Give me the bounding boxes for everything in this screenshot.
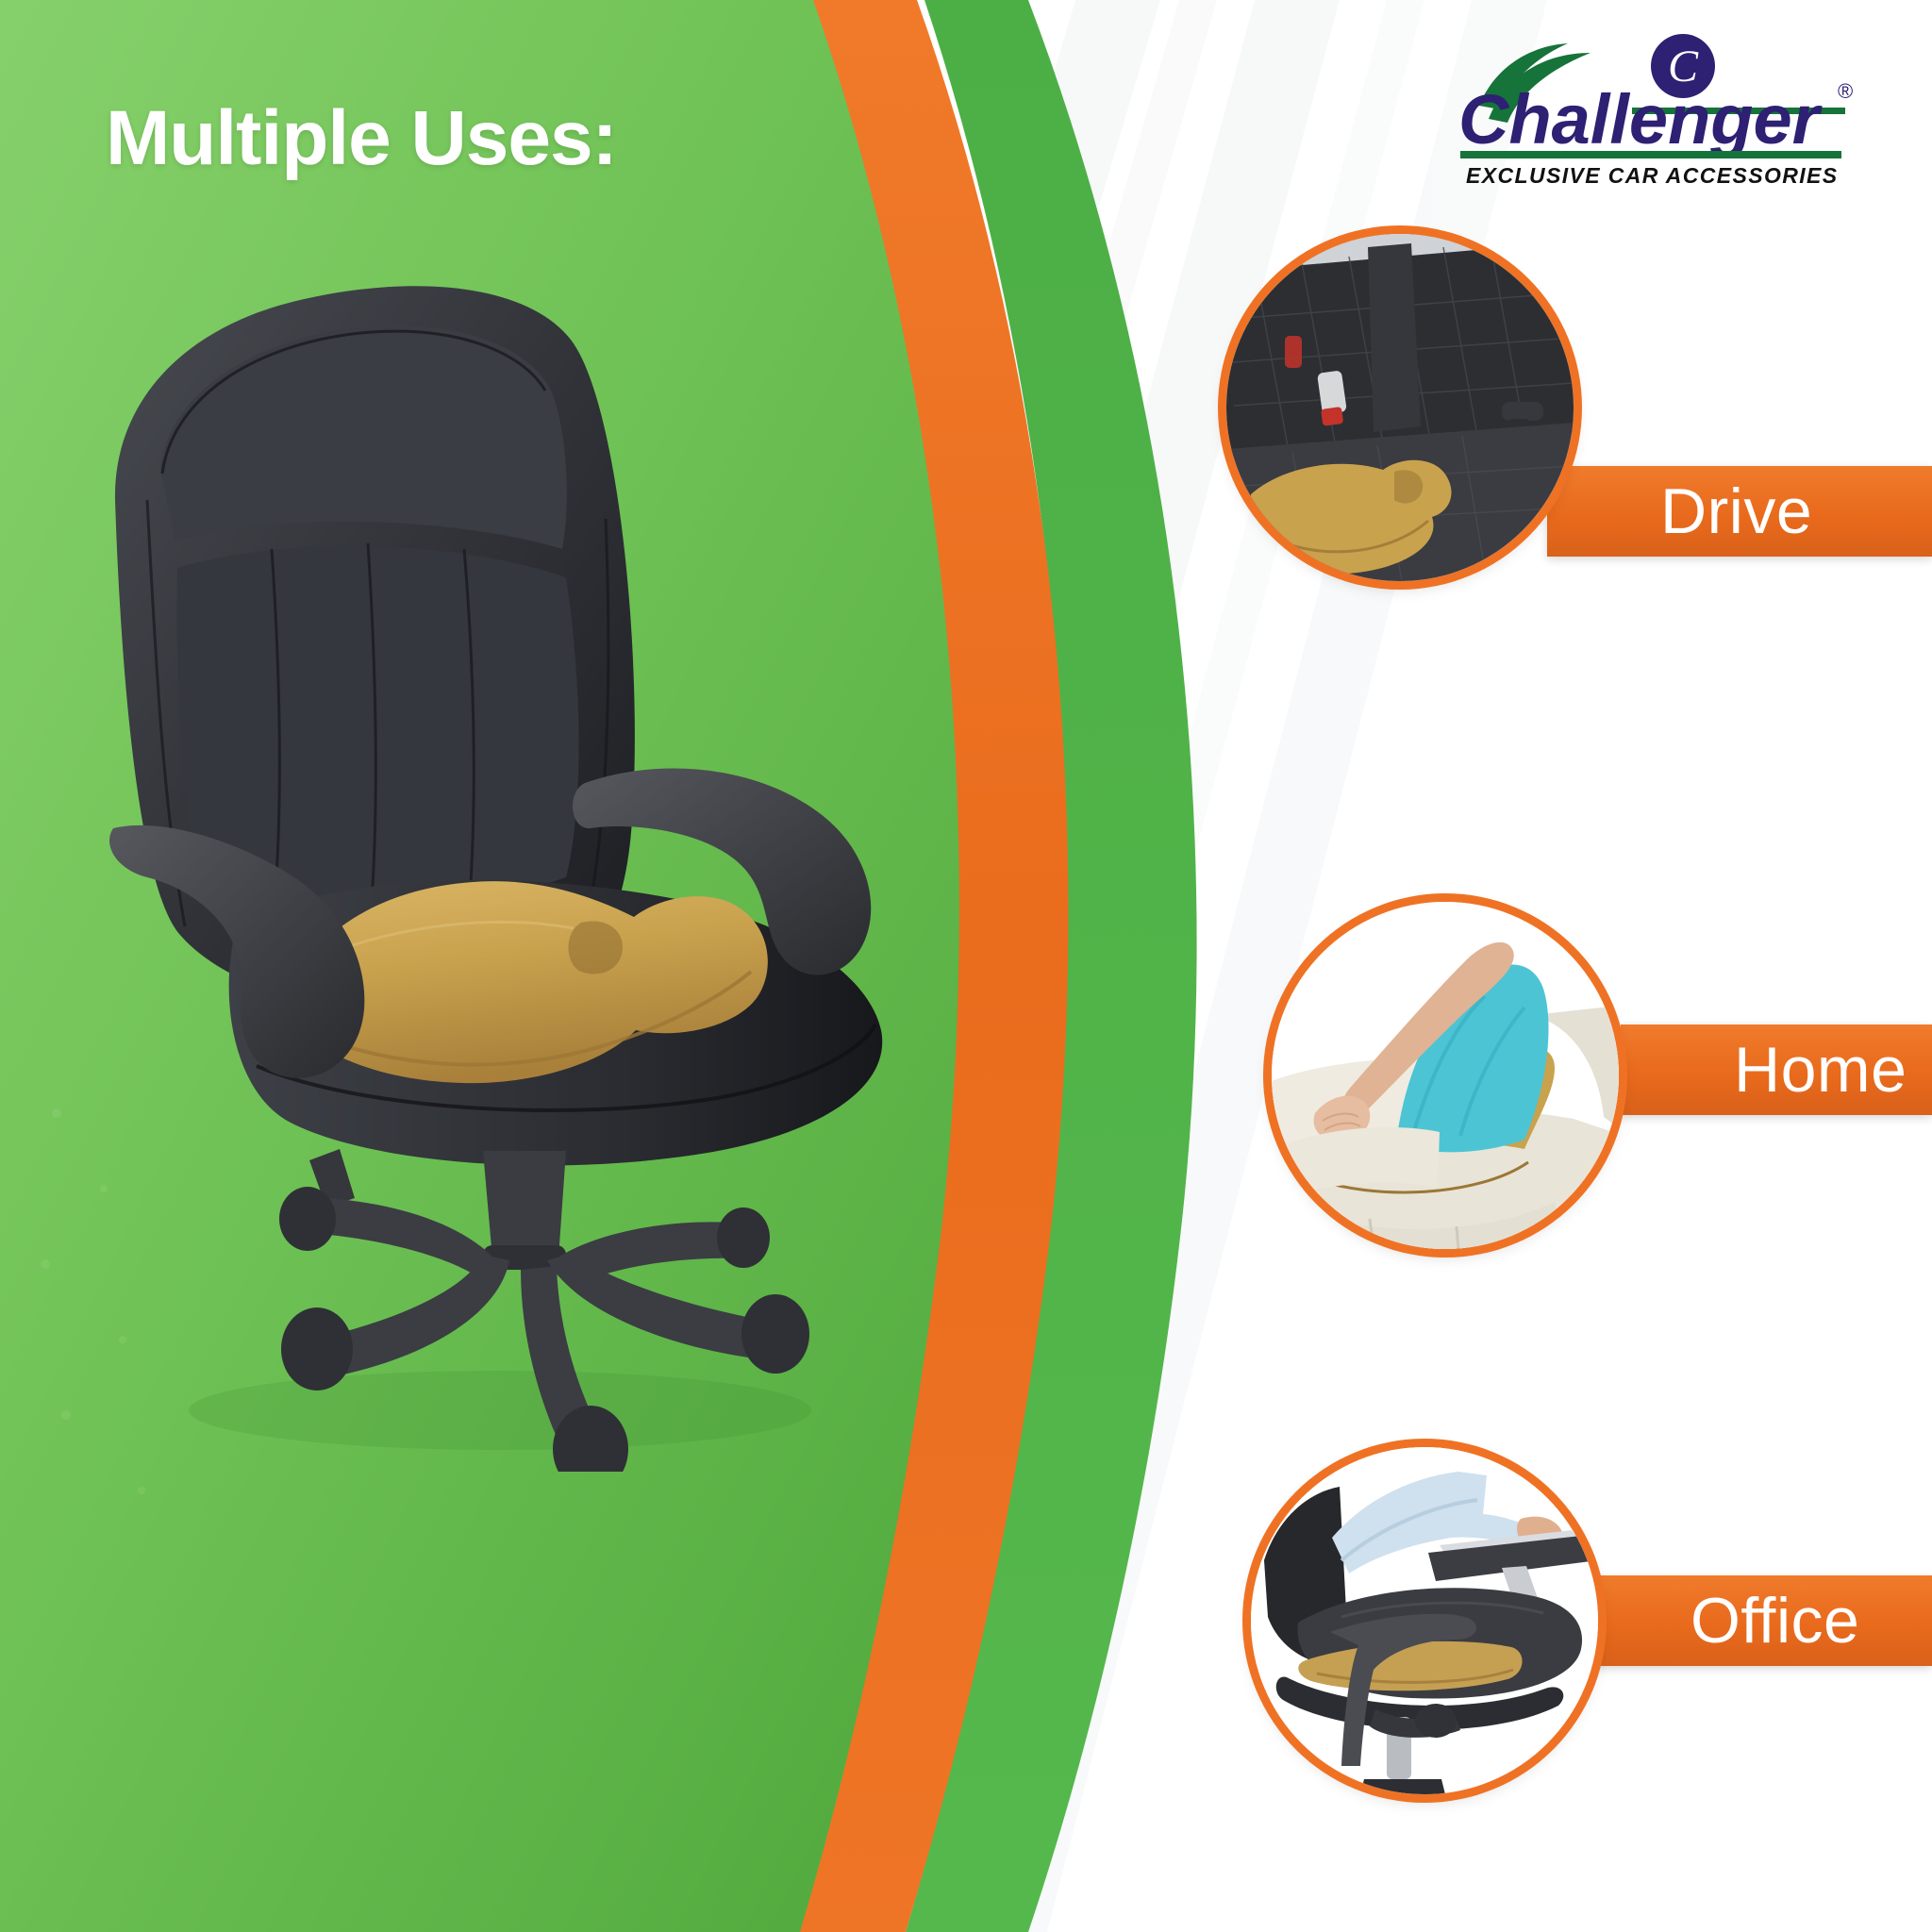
- car-rear-seat-photo: [1226, 234, 1574, 581]
- hero-product-photo: [57, 217, 924, 1472]
- photo-circle-drive: [1226, 234, 1574, 581]
- challenger-logo-mark: C Challenger ® EXCLUSIVE CAR ACCESSORIES: [1447, 28, 1862, 189]
- label-text-home: Home: [1734, 1033, 1907, 1107]
- product-marketing-poster: Multiple Uses: C Challenger ® EXCLUSIVE …: [0, 0, 1932, 1932]
- photo-circle-office: [1251, 1447, 1598, 1794]
- brand-logo: C Challenger ® EXCLUSIVE CAR ACCESSORIES: [1447, 28, 1862, 189]
- page-title: Multiple Uses:: [106, 94, 617, 183]
- photo-circle-home: [1272, 902, 1619, 1249]
- chair-cylinder: [483, 1151, 566, 1258]
- cushion-cutout: [568, 921, 623, 974]
- label-bar-office: Office: [1577, 1575, 1932, 1666]
- label-bar-home: Home: [1621, 1024, 1932, 1115]
- brand-wordmark: Challenger: [1458, 80, 1824, 158]
- home-sofa-photo: [1272, 902, 1619, 1249]
- brand-tagline: EXCLUSIVE CAR ACCESSORIES: [1466, 163, 1839, 188]
- registered-mark-icon: ®: [1838, 79, 1853, 103]
- office-chair-with-cushion-illustration: [57, 217, 924, 1472]
- label-bar-drive: Drive: [1547, 466, 1932, 557]
- office-desk-photo: [1251, 1447, 1598, 1794]
- label-text-office: Office: [1690, 1584, 1859, 1657]
- label-text-drive: Drive: [1660, 475, 1812, 548]
- logo-rule-bottom: [1460, 151, 1841, 158]
